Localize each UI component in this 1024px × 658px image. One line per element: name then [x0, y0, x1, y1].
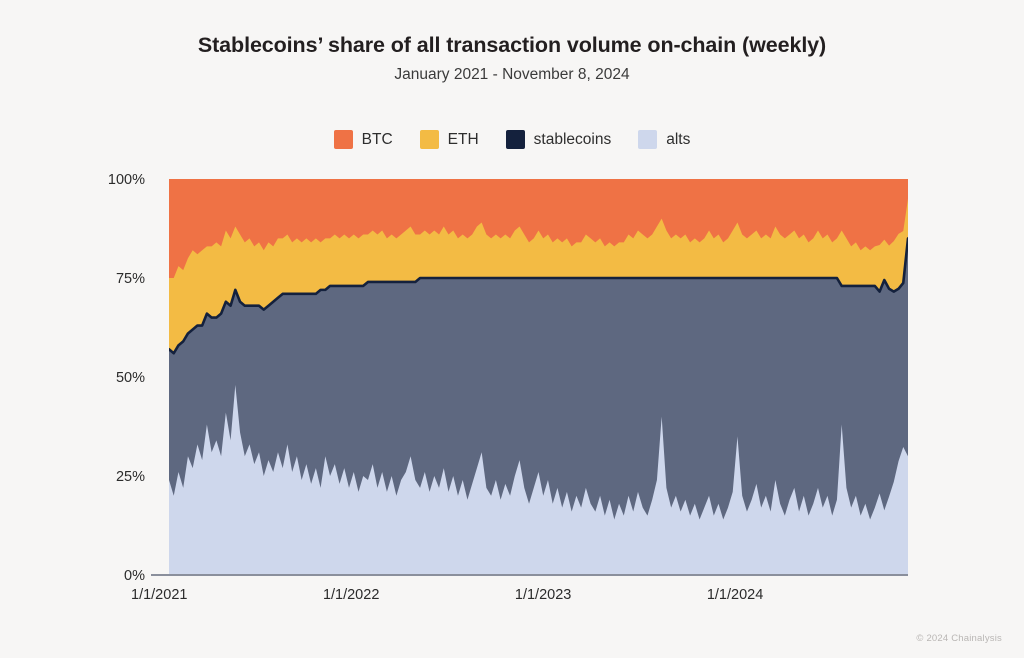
y-tick-label-75%: 75% — [116, 271, 145, 287]
copyright-credit: © 2024 Chainalysis — [916, 633, 1002, 644]
plot-area: 0%25%50%75%100% 1/1/20211/1/20221/1/2023… — [0, 0, 1024, 658]
stacked-area-chart: 0%25%50%75%100% 1/1/20211/1/20221/1/2023… — [0, 0, 1024, 658]
x-tick-label-1/1/2024: 1/1/2024 — [707, 587, 763, 603]
y-tick-label-0%: 0% — [124, 568, 145, 584]
area-series-group — [169, 179, 908, 575]
chart-figure: Stablecoins’ share of all transaction vo… — [0, 0, 1024, 658]
x-axis-tick-labels: 1/1/20211/1/20221/1/20231/1/2024 — [131, 587, 763, 603]
x-tick-label-1/1/2022: 1/1/2022 — [323, 587, 379, 603]
y-tick-label-100%: 100% — [108, 172, 145, 188]
x-tick-label-1/1/2023: 1/1/2023 — [515, 587, 571, 603]
y-axis-tick-labels: 0%25%50%75%100% — [108, 172, 145, 584]
y-tick-label-50%: 50% — [116, 370, 145, 386]
y-tick-label-25%: 25% — [116, 469, 145, 485]
x-tick-label-1/1/2021: 1/1/2021 — [131, 587, 187, 603]
